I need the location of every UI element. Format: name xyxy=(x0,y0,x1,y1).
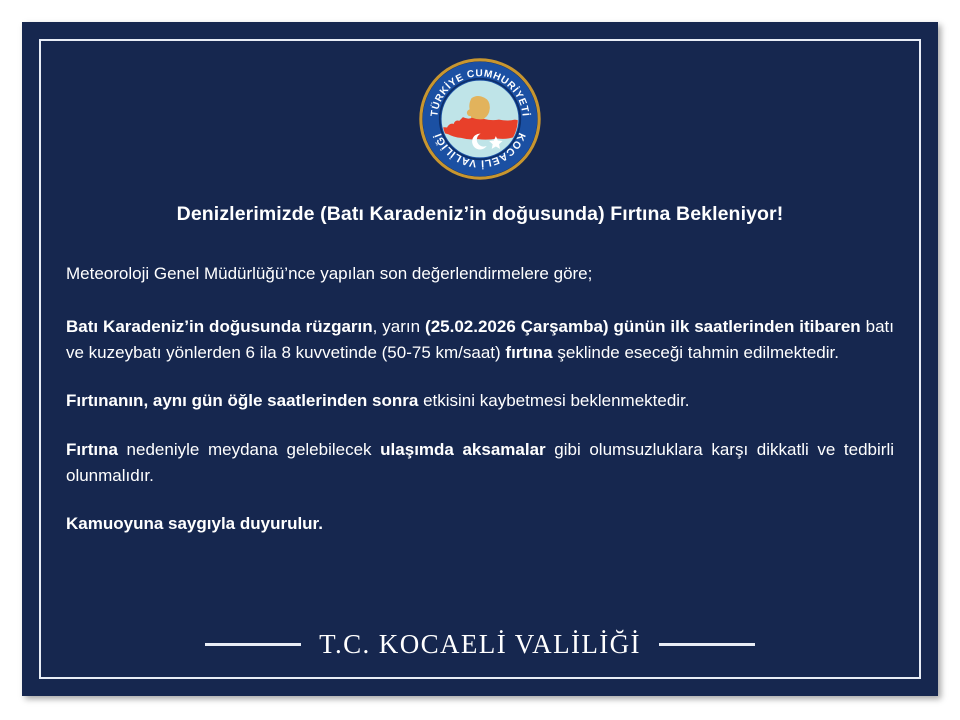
footer: T.C. KOCAELİ VALİLİĞİ xyxy=(22,629,938,660)
paragraph-duration-run-0: Fırtınanın, aynı gün öğle saatlerinden s… xyxy=(66,391,418,410)
emblem-container: TÜRKİYE CUMHURİYETİ KOCAELİ VALİLİĞİ xyxy=(22,58,938,180)
paragraph-closing: Kamuoyuna saygıyla duyurulur. xyxy=(66,511,894,537)
paragraph-intro-run-0: Meteoroloji Genel Müdürlüğü’nce yapılan … xyxy=(66,264,592,283)
kocaeli-valiligi-seal-icon: TÜRKİYE CUMHURİYETİ KOCAELİ VALİLİĞİ xyxy=(419,58,541,180)
page-title: Denizlerimizde (Batı Karadeniz’in doğusu… xyxy=(66,202,894,227)
footer-rule-left xyxy=(205,643,301,646)
paragraph-forecast-run-2: (25.02.2026 Çarşamba) günün ilk saatleri… xyxy=(425,317,861,336)
paragraph-forecast-run-4: fırtına xyxy=(505,343,552,362)
paragraph-forecast-run-5: şeklinde eseceği tahmin edilmektedir. xyxy=(553,343,839,362)
paragraph-warning-run-2: ulaşımda aksamalar xyxy=(380,440,546,459)
paragraph-forecast-run-1: , yarın xyxy=(373,317,425,336)
paragraph-closing-run-0: Kamuoyuna saygıyla duyurulur. xyxy=(66,514,323,533)
footer-title: T.C. KOCAELİ VALİLİĞİ xyxy=(319,629,641,660)
paragraph-warning-run-0: Fırtına xyxy=(66,440,118,459)
paragraph-list: Meteoroloji Genel Müdürlüğü’nce yapılan … xyxy=(66,261,894,537)
paragraph-warning: Fırtına nedeniyle meydana gelebilecek ul… xyxy=(66,437,894,490)
paragraph-duration-run-1: etkisini kaybetmesi beklenmektedir. xyxy=(418,391,689,410)
paragraph-duration: Fırtınanın, aynı gün öğle saatlerinden s… xyxy=(66,388,894,414)
announcement-body: Denizlerimizde (Batı Karadeniz’in doğusu… xyxy=(66,202,894,538)
announcement-poster: TÜRKİYE CUMHURİYETİ KOCAELİ VALİLİĞİ Den… xyxy=(22,22,938,696)
paragraph-forecast-run-0: Batı Karadeniz’in doğusunda rüzgarın xyxy=(66,317,373,336)
paragraph-forecast: Batı Karadeniz’in doğusunda rüzgarın, ya… xyxy=(66,314,894,367)
paragraph-warning-run-1: nedeniyle meydana gelebilecek xyxy=(118,440,380,459)
paragraph-intro: Meteoroloji Genel Müdürlüğü’nce yapılan … xyxy=(66,261,894,287)
footer-rule-right xyxy=(659,643,755,646)
